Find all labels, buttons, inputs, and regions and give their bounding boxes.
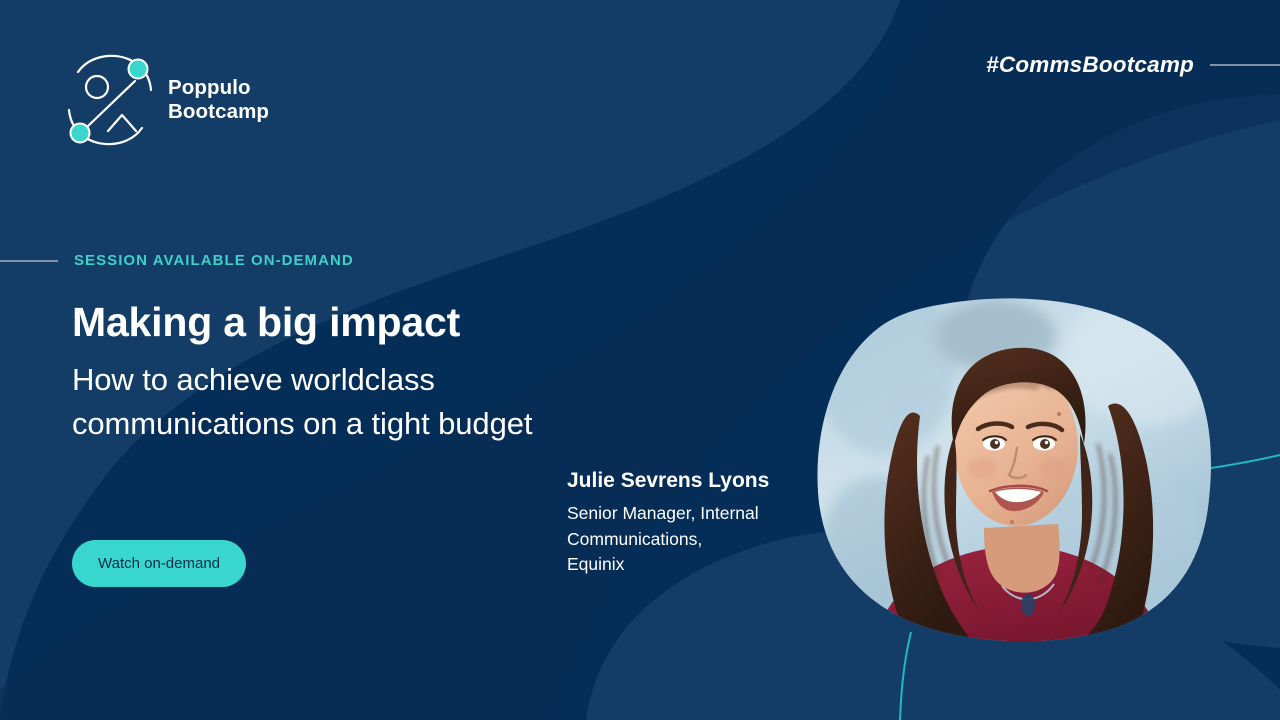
eyebrow-rule — [0, 260, 58, 262]
logo-wordmark-line1: Poppulo — [168, 76, 269, 100]
speaker-role-line3: Equinix — [567, 552, 817, 578]
hashtag-text: #CommsBootcamp — [986, 52, 1194, 78]
speaker-details: Julie Sevrens Lyons Senior Manager, Inte… — [567, 468, 817, 578]
session-subtitle: How to achieve worldclass communications… — [72, 358, 592, 446]
brand-logo[interactable]: Poppulo Bootcamp — [64, 45, 269, 155]
speaker-portrait — [816, 296, 1216, 641]
logo-wordmark: Poppulo Bootcamp — [168, 76, 269, 124]
eyebrow-label: SESSION AVAILABLE ON-DEMAND — [74, 252, 354, 269]
hashtag-rule — [1210, 64, 1280, 66]
speaker-role: Senior Manager, Internal Communications,… — [567, 501, 817, 578]
page-title: Making a big impact — [72, 300, 592, 346]
eyebrow-block: SESSION AVAILABLE ON-DEMAND — [0, 252, 354, 269]
speaker-role-line2: Communications, — [567, 527, 817, 553]
promo-banner: Poppulo Bootcamp #CommsBootcamp SESSION … — [0, 0, 1280, 720]
hashtag-block: #CommsBootcamp — [986, 52, 1280, 78]
poppulo-bootcamp-logo-icon — [64, 45, 160, 155]
logo-wordmark-line2: Bootcamp — [168, 100, 269, 124]
speaker-name: Julie Sevrens Lyons — [567, 468, 817, 493]
session-copy: Making a big impact How to achieve world… — [72, 300, 592, 446]
speaker-portrait-image — [816, 296, 1216, 641]
speaker-role-line1: Senior Manager, Internal — [567, 501, 817, 527]
watch-on-demand-button[interactable]: Watch on-demand — [72, 540, 246, 587]
